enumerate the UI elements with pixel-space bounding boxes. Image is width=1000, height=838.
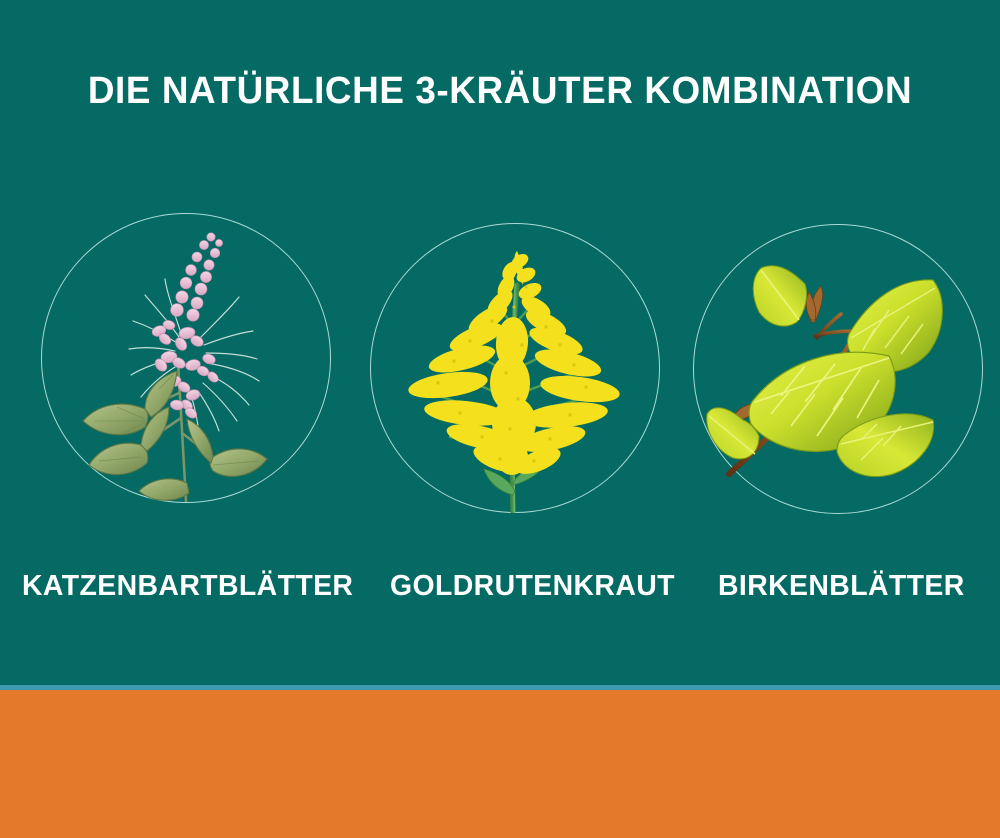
page-title: DIE NATÜRLICHE 3-KRÄUTER KOMBINATION (15, 70, 985, 113)
herb-circle-goldrutenkraut[interactable] (370, 223, 660, 513)
footer-bar: www.tad.de TAD Pharma MEMBER OF KRKA GRO… (0, 690, 1000, 838)
birch-leaves-illustration (693, 224, 983, 514)
poster-canvas: DIE NATÜRLICHE 3-KRÄUTER KOMBINATION (0, 0, 1000, 838)
herb-circle-katzenbartblaetter[interactable] (41, 213, 331, 503)
herb-label-katzenbartblaetter: KATZENBARTBLÄTTER (22, 570, 353, 603)
cats-whiskers-plant-illustration (41, 213, 331, 503)
herb-label-group: KATZENBARTBLÄTTER GOLDRUTENKRAUT BIRKENB… (0, 570, 1000, 610)
herb-label-birkenblaetter: BIRKENBLÄTTER (718, 570, 965, 603)
herb-circle-birkenblaetter[interactable] (693, 224, 983, 514)
goldenrod-plant-illustration (370, 223, 660, 513)
herb-label-goldrutenkraut: GOLDRUTENKRAUT (390, 570, 675, 603)
herb-circle-group (0, 213, 1000, 513)
